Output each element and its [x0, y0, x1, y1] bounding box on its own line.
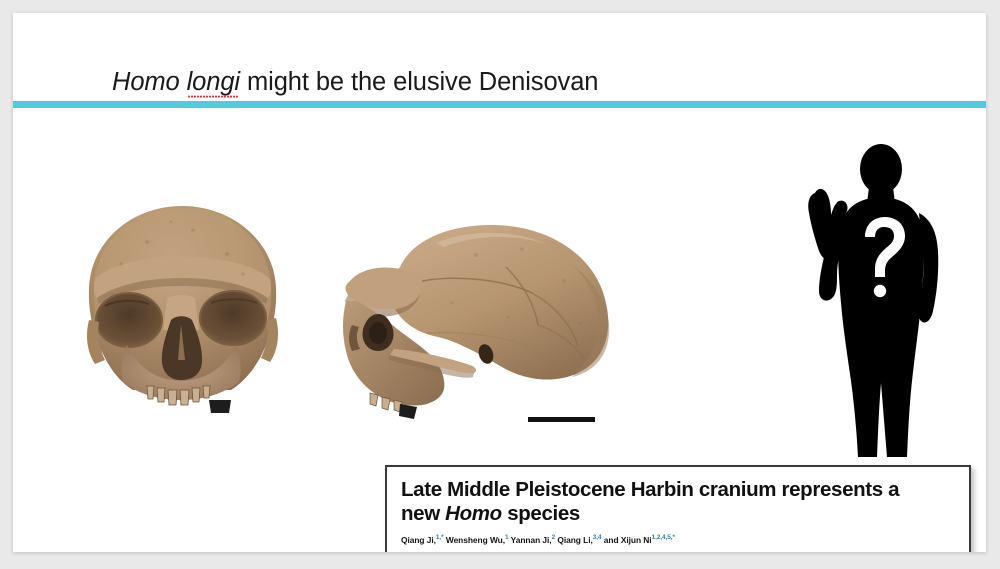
author-name: Wensheng Wu, [446, 535, 505, 545]
author-affiliation-marker: 1 [505, 535, 509, 542]
author-affiliation-marker: 1,2,4,5,* [652, 535, 675, 542]
accent-divider [13, 101, 986, 108]
page-title: Homo longi might be the elusive Denisova… [112, 68, 598, 97]
author-name: Qiang Li, [557, 535, 592, 545]
paper-headline: Late Middle Pleistocene Harbin cranium r… [401, 478, 955, 526]
paper-headline-genus: Homo [445, 502, 502, 525]
harbin-cranium-lateral-image [326, 221, 623, 421]
paper-headline-line2-suffix: species [502, 502, 580, 525]
author-affiliation-marker: 3,4 [593, 535, 602, 542]
paper-author-list: Qiang Ji,1,* Wensheng Wu,1 Yannan Ji,2 Q… [401, 535, 955, 545]
title-remainder-text: might be the elusive Denisovan [240, 68, 598, 96]
harbin-cranium-frontal-image [75, 202, 290, 424]
slide-title-block: Homo longi might be the elusive Denisova… [13, 13, 986, 101]
author-affiliation-marker: 2 [552, 535, 556, 542]
paper-title-card: Late Middle Pleistocene Harbin cranium r… [385, 465, 971, 552]
author-affiliation-marker: 1,* [436, 535, 444, 542]
title-genus-text: Homo [112, 68, 187, 96]
presentation-slide: Homo longi might be the elusive Denisova… [13, 13, 986, 552]
unknown-hominin-silhouette [795, 141, 963, 463]
author-name: and Xijun Ni [604, 535, 652, 545]
author-name: Qiang Ji, [401, 535, 436, 545]
slide-content-area: Late Middle Pleistocene Harbin cranium r… [13, 108, 986, 552]
paper-headline-line2-prefix: new [401, 502, 445, 525]
paper-headline-line1: Late Middle Pleistocene Harbin cranium r… [401, 478, 899, 501]
title-species-misspelled-text: longi [187, 68, 240, 97]
author-name: Yannan Ji, [511, 535, 552, 545]
scale-bar [528, 417, 595, 422]
